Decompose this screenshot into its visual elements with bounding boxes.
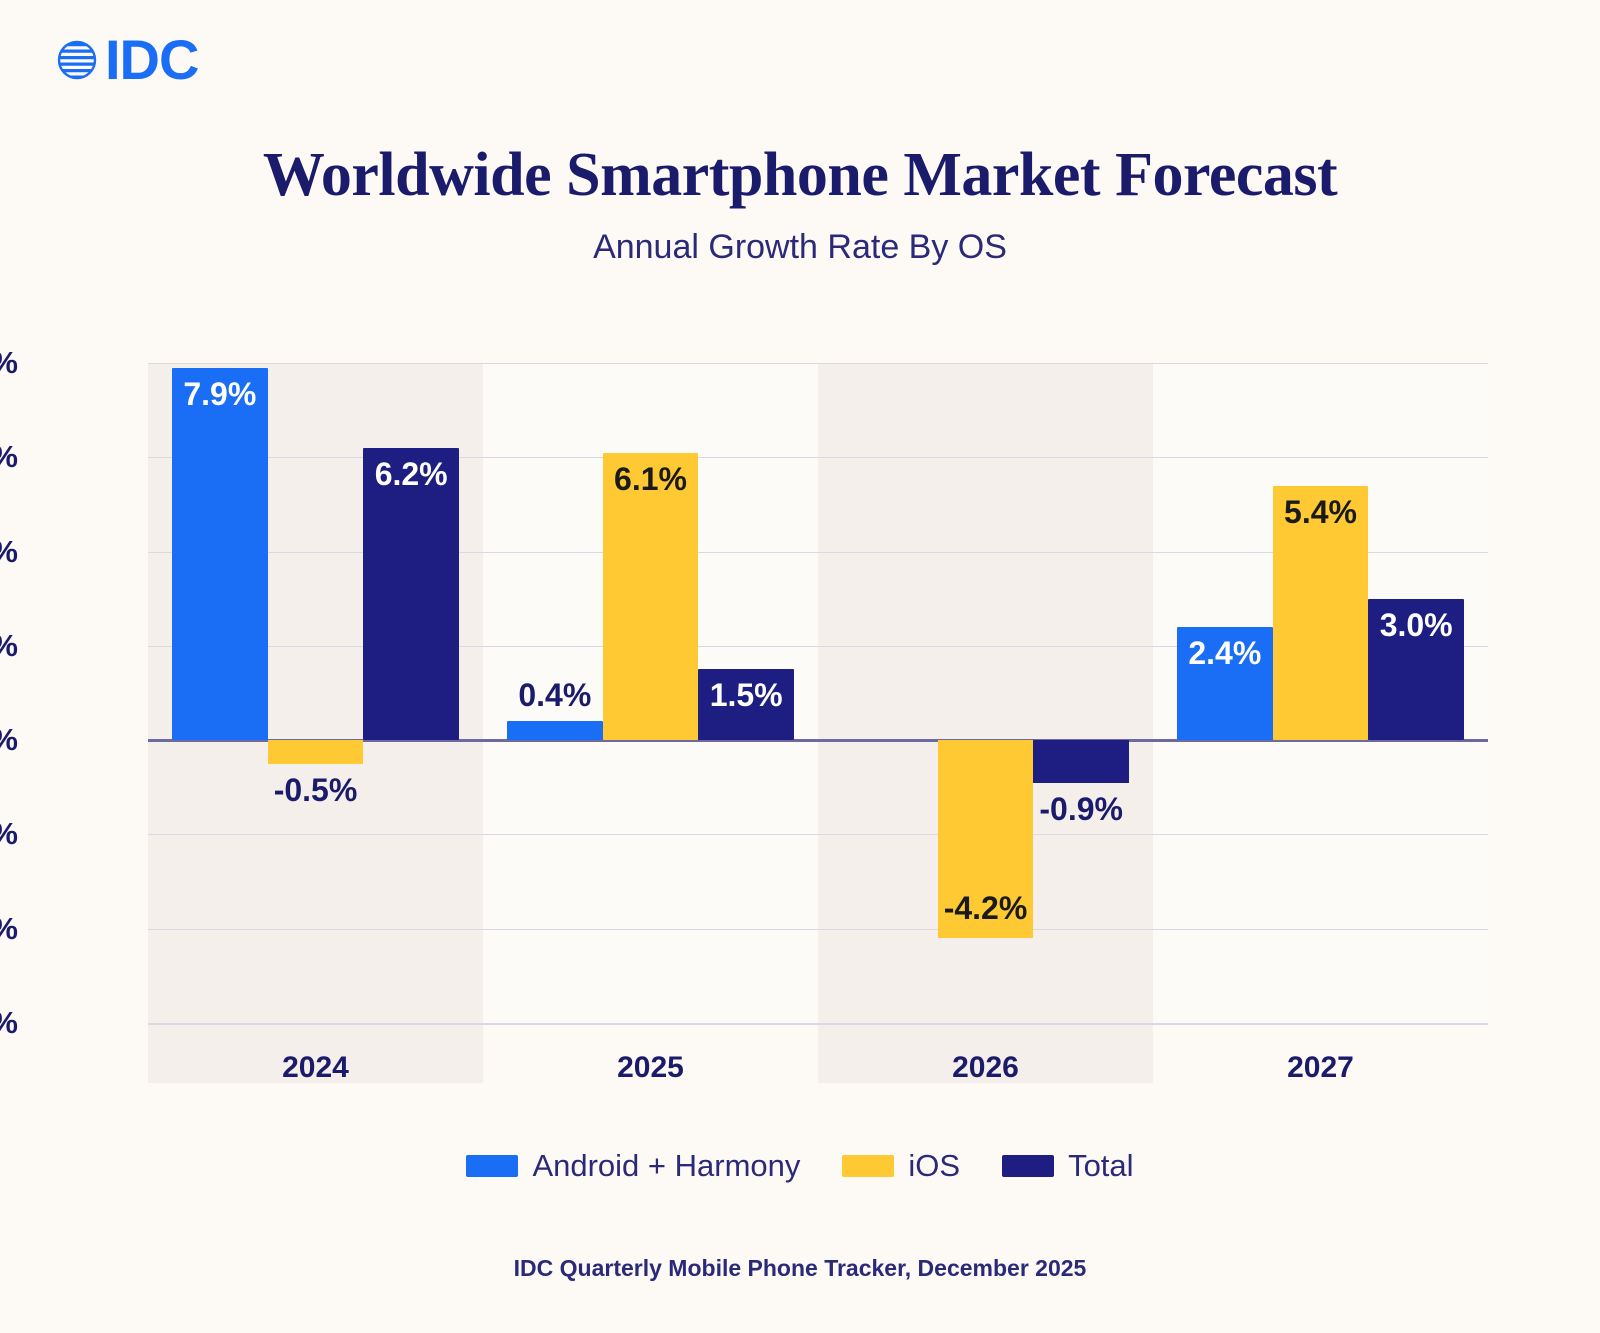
gridline-8% (148, 363, 1488, 364)
y-axis-label--6%: -6% (0, 1005, 18, 1041)
x-axis-label-2027: 2027 (1287, 1051, 1354, 1085)
legend-label-android: Android + Harmony (532, 1148, 800, 1184)
bar-2025-android-harmony[interactable] (507, 721, 603, 740)
y-axis-label--2%: -2% (0, 816, 18, 852)
y-axis-label-8%: 8% (0, 345, 18, 381)
bar-2024-android-harmony[interactable] (172, 368, 268, 740)
chart-plot-area: 8%6%4%2%0%-2%-4%-6%7.9%-0.5%6.2%20240.4%… (148, 363, 1488, 1023)
gridline--4% (148, 929, 1488, 930)
value-label-2027-total: 3.0% (1323, 607, 1509, 644)
chart-band-2026 (818, 363, 1153, 1083)
bar-2026-total[interactable] (1033, 740, 1129, 782)
legend-item-android[interactable]: Android + Harmony (466, 1148, 800, 1184)
value-label-2026-total: -0.9% (988, 791, 1174, 828)
idc-globe-icon (55, 38, 99, 82)
value-label-2024-android-harmony: 7.9% (127, 376, 313, 413)
chart-title: Worldwide Smartphone Market Forecast (0, 140, 1600, 211)
ios-swatch (842, 1155, 894, 1177)
android-swatch (466, 1155, 518, 1177)
x-axis-label-2024: 2024 (282, 1051, 349, 1085)
value-label-2026-ios: -4.2% (893, 890, 1079, 927)
value-label-2025-ios: 6.1% (558, 461, 744, 498)
chart-legend: Android + Harmony iOS Total (0, 1148, 1600, 1184)
value-label-2024-total: 6.2% (318, 456, 504, 493)
y-axis-label--4%: -4% (0, 911, 18, 947)
legend-item-total[interactable]: Total (1002, 1148, 1133, 1184)
idc-logo: IDC (55, 38, 198, 82)
value-label-2027-ios: 5.4% (1228, 494, 1414, 531)
x-axis-line (148, 1023, 1488, 1025)
legend-label-total: Total (1068, 1148, 1133, 1184)
chart-source-note: IDC Quarterly Mobile Phone Tracker, Dece… (0, 1255, 1600, 1282)
gridline--2% (148, 834, 1488, 835)
chart-subtitle: Annual Growth Rate By OS (0, 228, 1600, 267)
y-axis-label-6%: 6% (0, 439, 18, 475)
legend-item-ios[interactable]: iOS (842, 1148, 960, 1184)
idc-wordmark: IDC (105, 38, 198, 82)
x-axis-label-2025: 2025 (617, 1051, 684, 1085)
value-label-2025-total: 1.5% (653, 677, 839, 714)
y-axis-label-2%: 2% (0, 628, 18, 664)
y-axis-label-4%: 4% (0, 534, 18, 570)
x-axis-label-2026: 2026 (952, 1051, 1019, 1085)
value-label-2024-ios: -0.5% (223, 772, 409, 809)
y-axis-label-0%: 0% (0, 722, 18, 758)
legend-label-ios: iOS (908, 1148, 960, 1184)
bar-2024-ios[interactable] (268, 740, 364, 764)
total-swatch (1002, 1155, 1054, 1177)
